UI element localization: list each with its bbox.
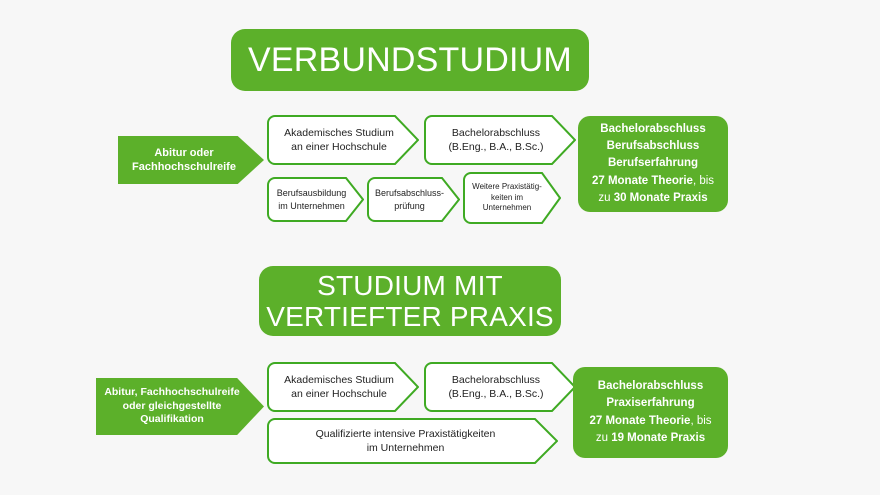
practice-months: 30 Monate Praxis (614, 192, 708, 204)
entry-requirement-vertiefte-praxis: Abitur, Fachhochschulreife oder gleichge… (96, 378, 264, 435)
theory-suffix: , bis (690, 415, 711, 427)
result-line-duration-practice: zu 30 Monate Praxis (592, 190, 714, 207)
step-line: Berufsausbildung (271, 187, 352, 199)
step-berufsabschlusspruefung: Berufsabschluss- prüfung (367, 177, 460, 222)
result-line: Praxiserfahrung (589, 395, 711, 412)
step-line: Unternehmen (467, 203, 547, 214)
step-line: (B.Eng., B.A., B.Sc.) (430, 140, 562, 154)
step-line: (B.Eng., B.A., B.Sc.) (430, 387, 562, 401)
section-title-studium-mit-vertiefter-praxis: STUDIUM MIT VERTIEFTER PRAXIS (259, 266, 561, 336)
step-line: Bachelorabschluss (430, 126, 562, 140)
step-line: Qualifizierte intensive Praxistätigkeite… (273, 427, 538, 441)
result-box-vertiefte-praxis: Bachelorabschluss Praxiserfahrung 27 Mon… (573, 367, 728, 458)
result-line: Berufserfahrung (592, 155, 714, 172)
step-line: an einer Hochschule (273, 140, 405, 154)
step-berufsausbildung: Berufsausbildung im Unternehmen (267, 177, 364, 222)
step-line: Weitere Praxistätig- (467, 182, 547, 193)
step-line: keiten im (467, 193, 547, 204)
step-line: Akademisches Studium (273, 373, 405, 387)
result-line: Berufsabschluss (592, 138, 714, 155)
step-line: Berufsabschluss- (371, 187, 448, 199)
result-line-duration-practice: zu 19 Monate Praxis (589, 430, 711, 447)
section-title-line: STUDIUM MIT (266, 270, 554, 301)
theory-months: 27 Monate Theorie (592, 175, 693, 187)
step-line: Akademisches Studium (273, 126, 405, 140)
entry-line: Abitur oder (132, 146, 236, 160)
theory-suffix: , bis (693, 175, 714, 187)
result-line: Bachelorabschluss (589, 378, 711, 395)
result-box-verbundstudium: Bachelorabschluss Berufsabschluss Berufs… (578, 116, 728, 212)
step-bachelorabschluss-1: Bachelorabschluss (B.Eng., B.A., B.Sc.) (424, 115, 576, 165)
step-qualifizierte-praxistaetigkeiten: Qualifizierte intensive Praxistätigkeite… (267, 418, 558, 464)
entry-line: Fachhochschulreife (132, 160, 236, 174)
step-akademisches-studium-2: Akademisches Studium an einer Hochschule (267, 362, 419, 412)
step-line: Bachelorabschluss (430, 373, 562, 387)
theory-months: 27 Monate Theorie (589, 415, 690, 427)
section-title-line: VERTIEFTER PRAXIS (266, 301, 554, 332)
entry-line: Abitur, Fachhochschulreife (104, 386, 239, 400)
entry-line: oder gleichgestellte (104, 400, 239, 414)
entry-line: Qualifikation (104, 413, 239, 427)
diagram-canvas: VERBUNDSTUDIUM Abitur oder Fachhochschul… (0, 0, 880, 495)
step-line: im Unternehmen (271, 200, 352, 212)
result-line: Bachelorabschluss (592, 121, 714, 138)
step-line: an einer Hochschule (273, 387, 405, 401)
step-bachelorabschluss-2: Bachelorabschluss (B.Eng., B.A., B.Sc.) (424, 362, 576, 412)
practice-months: 19 Monate Praxis (611, 432, 705, 444)
practice-prefix: zu (596, 432, 611, 444)
practice-prefix: zu (598, 192, 613, 204)
step-weitere-praxistaetigkeiten: Weitere Praxistätig- keiten im Unternehm… (463, 172, 561, 224)
section-title-verbundstudium: VERBUNDSTUDIUM (231, 29, 589, 91)
result-line-duration-theory: 27 Monate Theorie, bis (592, 173, 714, 190)
step-line: im Unternehmen (273, 441, 538, 455)
result-line-duration-theory: 27 Monate Theorie, bis (589, 413, 711, 430)
step-line: prüfung (371, 200, 448, 212)
entry-requirement-verbundstudium: Abitur oder Fachhochschulreife (118, 136, 264, 184)
step-akademisches-studium-1: Akademisches Studium an einer Hochschule (267, 115, 419, 165)
